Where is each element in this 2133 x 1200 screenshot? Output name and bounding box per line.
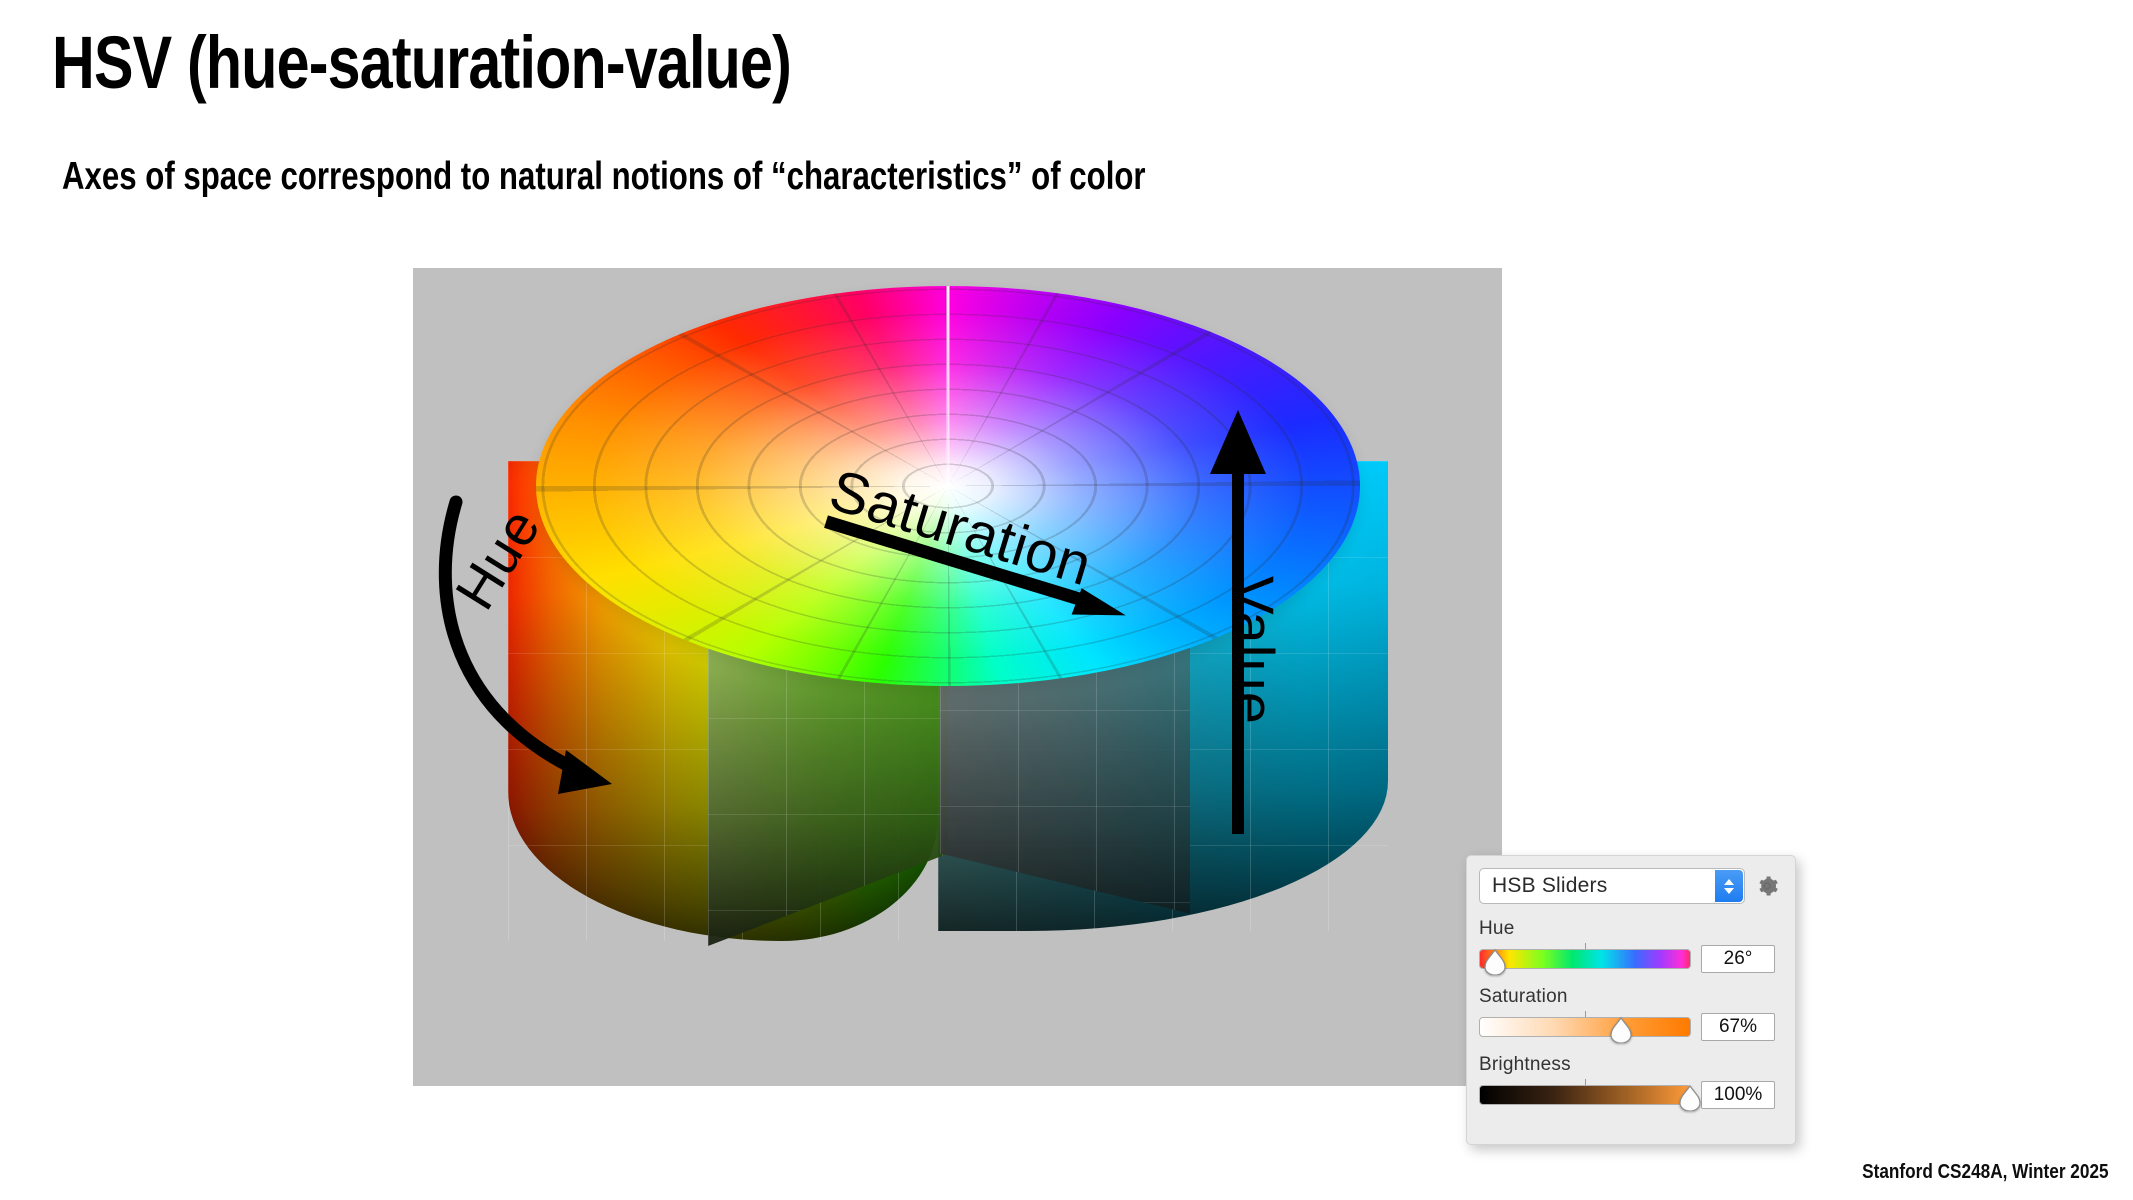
- brightness-slider-label: Brightness: [1479, 1054, 1785, 1076]
- hue-slider-block: Hue 26°: [1479, 918, 1785, 973]
- panel-header-row: HSB Sliders: [1479, 868, 1779, 904]
- saturation-slider-row: 67%: [1479, 1013, 1785, 1041]
- chevron-down-icon[interactable]: [1724, 888, 1734, 894]
- saturation-slider-block: Saturation 67%: [1479, 986, 1785, 1041]
- saturation-slider-tick: [1585, 1011, 1586, 1017]
- brightness-value-field[interactable]: 100%: [1701, 1081, 1775, 1109]
- hue-slider-label: Hue: [1479, 918, 1785, 940]
- slide-footer: Stanford CS248A, Winter 2025: [1863, 1161, 2109, 1184]
- saturation-slider-track[interactable]: [1479, 1017, 1691, 1037]
- saturation-slider-label: Saturation: [1479, 986, 1785, 1008]
- chevron-up-icon[interactable]: [1724, 879, 1734, 885]
- saturation-value-field[interactable]: 67%: [1701, 1013, 1775, 1041]
- stepper-buttons[interactable]: [1715, 870, 1743, 902]
- brightness-slider-block: Brightness 100%: [1479, 1054, 1785, 1109]
- gear-icon[interactable]: [1755, 874, 1779, 898]
- brightness-slider-thumb[interactable]: [1679, 1085, 1701, 1111]
- hsb-sliders-panel[interactable]: HSB Sliders Hue 26° Saturation: [1466, 855, 1796, 1145]
- figure-stage: Hue Saturation Value: [413, 268, 1502, 1086]
- brightness-slider-tick: [1585, 1079, 1586, 1085]
- color-mode-value: HSB Sliders: [1480, 874, 1607, 898]
- brightness-slider-row: 100%: [1479, 1081, 1785, 1109]
- color-mode-select[interactable]: HSB Sliders: [1479, 868, 1745, 904]
- value-axis-label: Value: [1219, 576, 1286, 725]
- value-annotation: Value: [1208, 406, 1318, 836]
- hue-slider-tick: [1585, 943, 1586, 949]
- hsv-cylinder-figure: Hue Saturation Value: [413, 268, 1502, 1086]
- page-title: HSV (hue-saturation-value): [52, 20, 791, 105]
- hue-slider-row: 26°: [1479, 945, 1785, 973]
- hsv-cylinder: Hue Saturation Value: [508, 286, 1388, 1046]
- wheel-seam: [947, 286, 950, 486]
- brightness-slider-track[interactable]: [1479, 1085, 1691, 1105]
- saturation-slider-thumb[interactable]: [1610, 1017, 1632, 1043]
- page-subtitle: Axes of space correspond to natural noti…: [62, 155, 1146, 199]
- hue-value-field[interactable]: 26°: [1701, 945, 1775, 973]
- hue-slider-track[interactable]: [1479, 949, 1691, 969]
- hue-slider-thumb[interactable]: [1484, 949, 1506, 975]
